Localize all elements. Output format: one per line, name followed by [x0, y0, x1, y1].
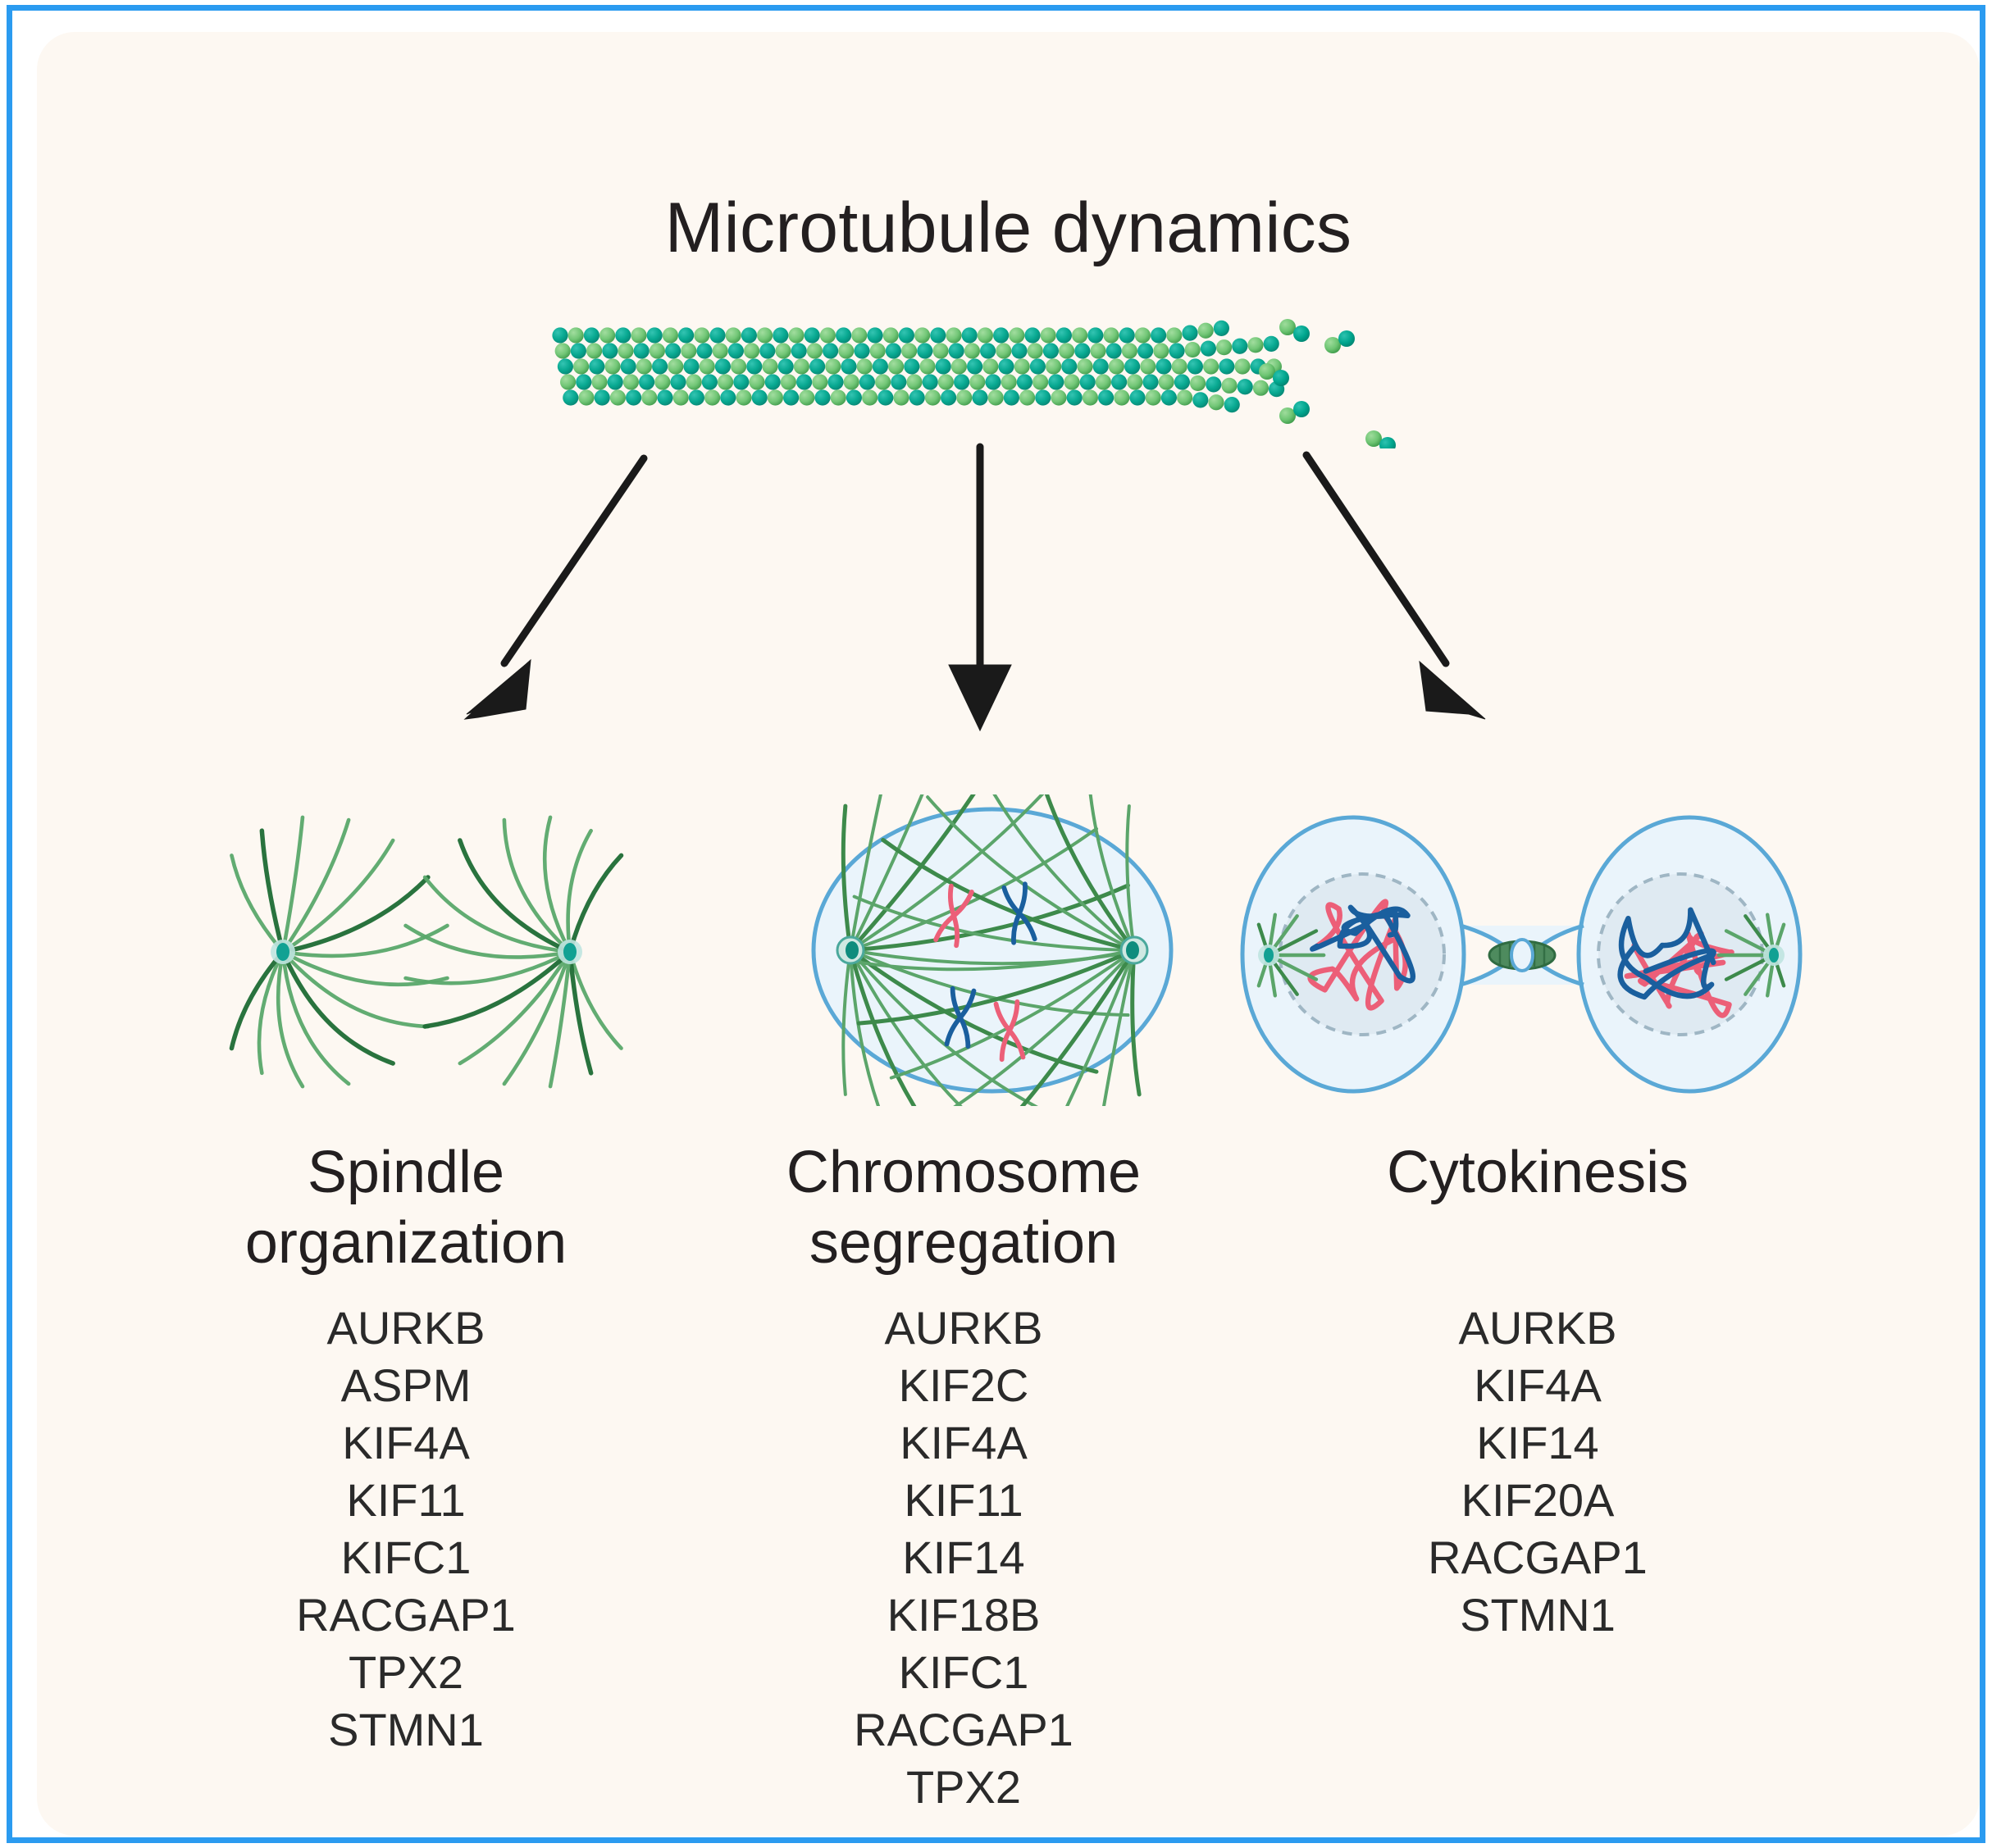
arrow-to-spindle-organization [465, 458, 644, 719]
metaphase-cell-svg [800, 794, 1185, 1106]
arrow-to-chromosome-segregation [949, 447, 1011, 731]
gene-item: KIF20A [1267, 1472, 1808, 1529]
gene-item: AURKB [1267, 1300, 1808, 1357]
gene-item: RACGAP1 [1267, 1529, 1808, 1586]
column-chromosome-segregation: Chromosome segregation AURKB KIF2C KIF4A… [693, 1137, 1234, 1816]
page-title: Microtubule dynamics [37, 188, 1980, 269]
gene-item: KIF18B [693, 1586, 1234, 1644]
gene-item: RACGAP1 [135, 1586, 677, 1644]
illustration-chromosome-segregation [800, 794, 1185, 1106]
column-spindle-organization: Spindle organization AURKB ASPM KIF4A KI… [135, 1137, 677, 1759]
figure-canvas: Microtubule dynamics [0, 0, 1992, 1848]
gene-list-spindle-organization: AURKB ASPM KIF4A KIF11 KIFC1 RACGAP1 TPX… [135, 1300, 677, 1759]
centrosome-right [1121, 937, 1147, 963]
arrow-group [37, 426, 1980, 794]
gene-item: ASPM [135, 1357, 677, 1414]
column-heading: Chromosome segregation [693, 1137, 1234, 1278]
gene-item: STMN1 [135, 1701, 677, 1759]
column-cytokinesis: Cytokinesis AURKB KIF4A KIF14 KIF20A RAC… [1267, 1137, 1808, 1644]
gene-item: KIF14 [1267, 1414, 1808, 1472]
gene-list-chromosome-segregation: AURKB KIF2C KIF4A KIF11 KIF14 KIF18B KIF… [693, 1300, 1234, 1816]
gene-item: KIF11 [135, 1472, 677, 1529]
gene-item: KIF4A [693, 1414, 1234, 1472]
arrow-to-cytokinesis [1306, 455, 1485, 719]
illustration-spindle-organization [197, 803, 656, 1098]
gene-item: AURKB [693, 1300, 1234, 1357]
gene-item: TPX2 [693, 1759, 1234, 1816]
centrosome-left [837, 937, 864, 963]
gene-item: KIF4A [1267, 1357, 1808, 1414]
arrows-svg [37, 426, 1980, 794]
gene-item: KIFC1 [135, 1529, 677, 1586]
gene-list-cytokinesis: AURKB KIF4A KIF14 KIF20A RACGAP1 STMN1 [1267, 1300, 1808, 1644]
gene-item: KIF11 [693, 1472, 1234, 1529]
illustration-cytokinesis [1218, 803, 1825, 1106]
column-heading: Cytokinesis [1267, 1137, 1808, 1208]
gene-item: STMN1 [1267, 1586, 1808, 1644]
cytokinesis-svg [1218, 803, 1825, 1106]
aster-pair-svg [197, 803, 656, 1098]
gene-item: TPX2 [135, 1644, 677, 1701]
column-heading: Spindle organization [135, 1137, 677, 1278]
figure-border: Microtubule dynamics [7, 5, 1985, 1843]
gene-item: RACGAP1 [693, 1701, 1234, 1759]
gene-item: KIF2C [693, 1357, 1234, 1414]
gene-item: KIF4A [135, 1414, 677, 1472]
gene-item: KIF14 [693, 1529, 1234, 1586]
figure-panel: Microtubule dynamics [37, 32, 1980, 1836]
gene-item: KIFC1 [693, 1644, 1234, 1701]
gene-item: AURKB [135, 1300, 677, 1357]
